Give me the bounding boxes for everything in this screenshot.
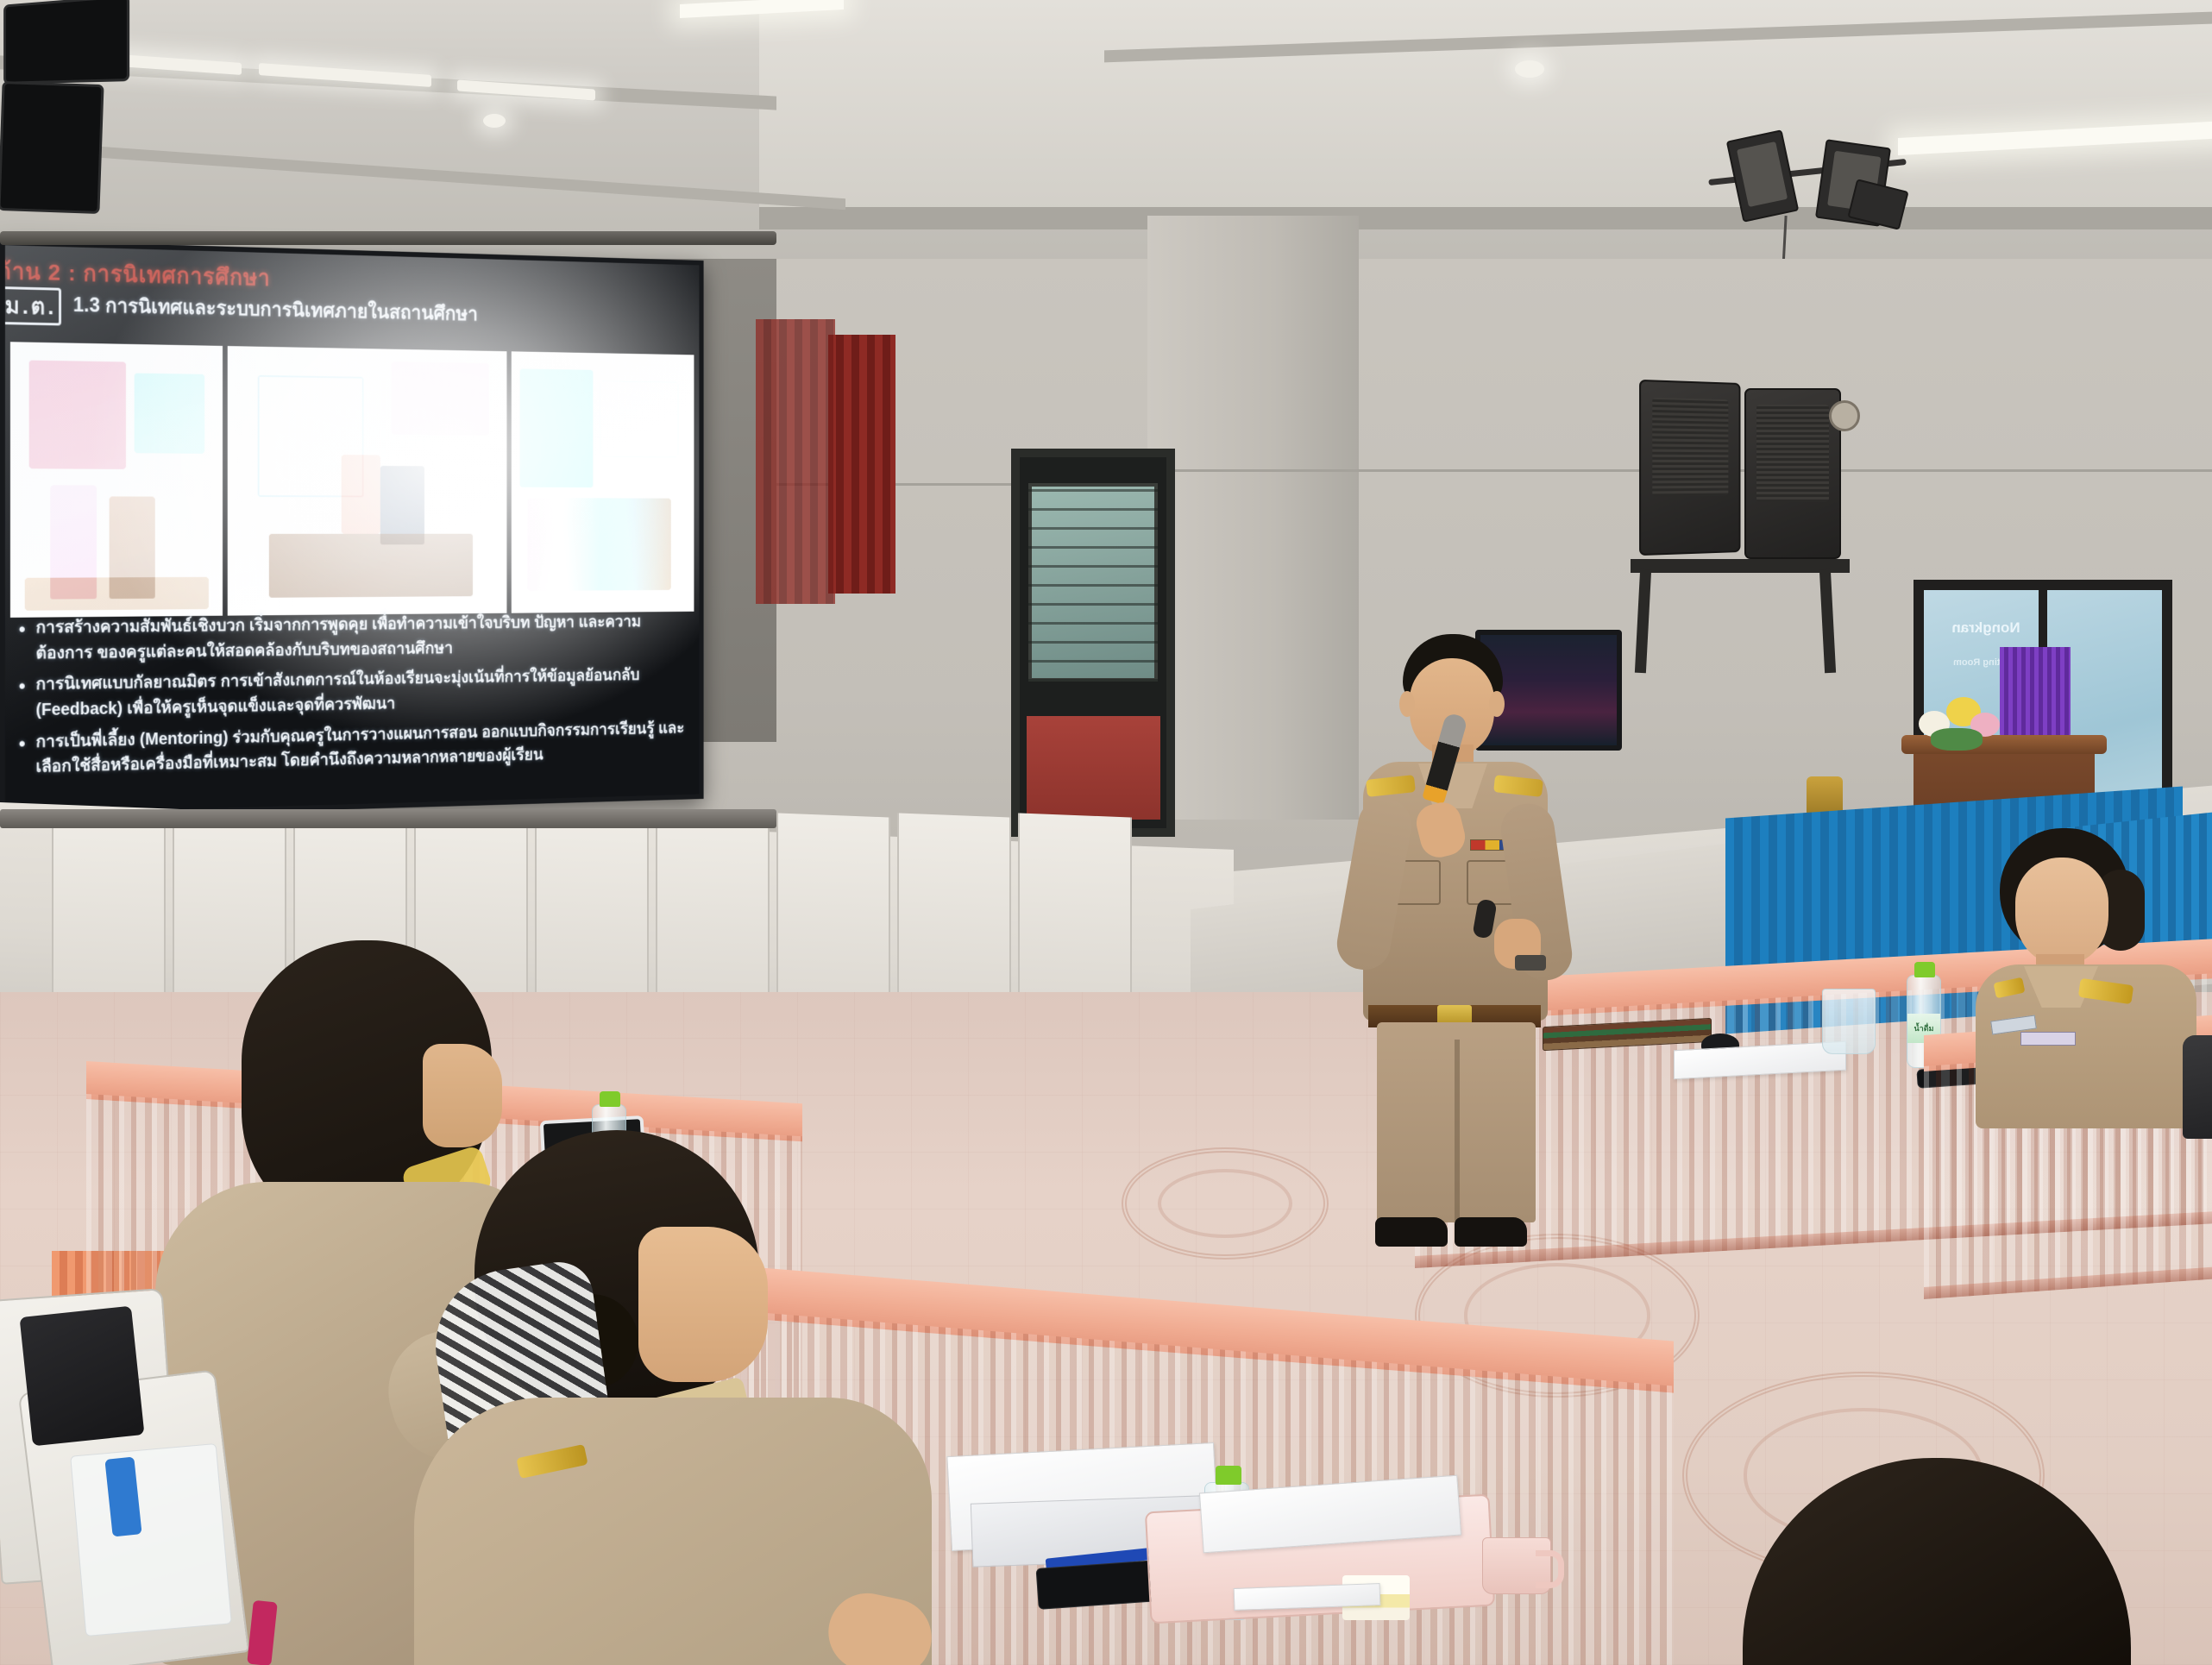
doorway-grille <box>1028 483 1158 682</box>
presenter-shoe-right <box>1455 1217 1527 1247</box>
door-banner-text: Nongkran <box>1934 619 2038 637</box>
projection-screen: ด้าน 2 : การนิเทศการศึกษา ม.ต. 1.3 การนิ… <box>0 240 704 820</box>
photo2-desk <box>269 534 473 598</box>
slide-bullet-list: การสร้างความสัมพันธ์เชิงบวก เริ่มจากการพ… <box>17 610 689 787</box>
presenter-speaking <box>1346 634 1605 1255</box>
bottle-cap-1 <box>1914 962 1935 977</box>
pa-speaker-left <box>1639 380 1740 556</box>
stage-panel-6 <box>656 813 770 998</box>
wall-clock <box>1829 400 1860 431</box>
screen-bottom-bar <box>0 809 776 828</box>
photo1-poster <box>135 373 205 454</box>
slide-bullet-2: การนิเทศแบบกัลยาณมิตร การเข้าสังเกตการณ์… <box>17 663 689 724</box>
seated-attendee-foreground-right <box>1743 1458 2140 1665</box>
screen-roller-housing <box>0 231 776 245</box>
chairwoman-name-tag <box>2020 1032 2076 1046</box>
stage-panel-7 <box>776 813 890 998</box>
attendee-foreground-right-hair <box>1743 1458 2131 1665</box>
stage-curtain-red-2 <box>756 319 835 604</box>
slide-photo-1 <box>10 342 223 618</box>
slide-bullet-3: การเป็นพี่เลี้ยง (Mentoring) ร่วมกับคุณค… <box>17 716 689 781</box>
presenter-ear-right <box>1489 691 1505 717</box>
water-cup-head-table[interactable] <box>1822 989 1876 1054</box>
ceiling-soffit-edge <box>759 207 2212 229</box>
pa-speaker-bracket-top <box>1631 559 1850 573</box>
back-doorway <box>1011 449 1175 837</box>
photo3-wall <box>520 368 593 487</box>
seminar-room-photo: Nongkran Meeting Room ด้าน 2 : การนิเทศก… <box>0 0 2212 1665</box>
laptop-lid-center[interactable] <box>0 81 104 214</box>
photo2-student-2 <box>380 466 424 544</box>
black-bag-on-chair[interactable] <box>20 1306 145 1447</box>
bottle-cap-4 <box>1216 1466 1241 1485</box>
slide-heading: 1.3 การนิเทศและระบบการนิเทศภายในสถานศึกษ… <box>73 292 692 331</box>
chair-right-official[interactable] <box>2183 1035 2212 1139</box>
stage-panel-9 <box>1018 813 1132 998</box>
plastic-bag-on-chair[interactable] <box>70 1443 232 1637</box>
doorway-lower-panel <box>1027 716 1160 820</box>
photo1-desk <box>25 577 210 611</box>
presenter-ear-left <box>1399 691 1415 717</box>
photo3-group <box>527 498 671 591</box>
stage-curtain-red <box>828 335 895 594</box>
slide-badge: ม.ต. <box>0 286 61 325</box>
spotlight-left-lens <box>1737 141 1788 207</box>
ceiling-downlight-1 <box>483 114 506 128</box>
tablet-on-stand <box>3 0 129 85</box>
photo2-chart <box>391 361 488 436</box>
slide-photo-grid <box>10 342 694 618</box>
presenter-shoe-left <box>1375 1217 1448 1247</box>
attendee-center-face <box>638 1227 768 1382</box>
slide-photo-3 <box>512 351 694 613</box>
wall-pillar <box>1147 216 1359 820</box>
slide-bullet-1: การสร้างความสัมพันธ์เชิงบวก เริ่มจากการพ… <box>17 610 689 667</box>
flower-leaf <box>1931 728 1983 751</box>
slide-photo-2 <box>228 346 506 616</box>
ceiling-soffit <box>759 0 2212 216</box>
pa-speaker-right <box>1744 388 1841 559</box>
floor-medallion-3 <box>1122 1147 1329 1260</box>
ceiling-downlight-2 <box>1515 60 1544 78</box>
bottle-cap-3 <box>600 1091 620 1107</box>
photo1-board <box>29 361 127 470</box>
photo3-noticeboard <box>600 380 678 458</box>
presenter-wristwatch <box>1515 955 1546 971</box>
flower-arrangement <box>1914 690 2008 751</box>
stage-panel-8 <box>897 813 1011 998</box>
photo2-student-1 <box>342 456 380 535</box>
seated-official-right <box>1976 828 2212 1122</box>
pink-mug[interactable] <box>1482 1537 1551 1594</box>
seated-attendee-center <box>380 1130 983 1665</box>
purple-drape <box>2000 647 2071 742</box>
presenter-trouser-seam <box>1455 1040 1460 1221</box>
presentation-slide: ด้าน 2 : การนิเทศการศึกษา ม.ต. 1.3 การนิ… <box>5 245 699 814</box>
chairwoman-face <box>2015 858 2108 964</box>
